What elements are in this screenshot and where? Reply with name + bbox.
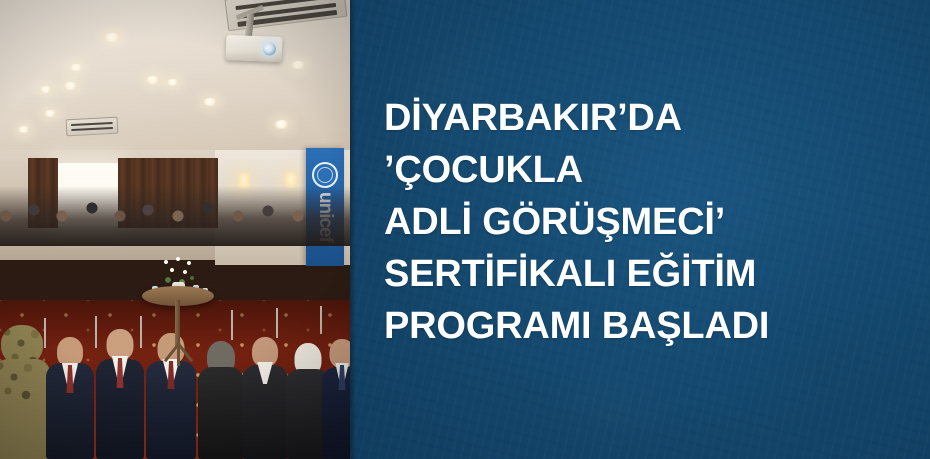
audience-crowd [0,186,350,246]
headline-line-1: DİYARBAKIR’DA [384,92,916,144]
headline: DİYARBAKIR’DA ’ÇOCUKLA ADLİ GÖRÜŞMECİ’ S… [384,92,916,352]
downlight-icon [167,79,179,86]
table-foot [177,344,180,366]
chair-leg [140,316,142,348]
headline-panel: DİYARBAKIR’DA ’ÇOCUKLA ADLİ GÖRÜŞMECİ’ S… [350,0,930,459]
downlight-icon [44,110,57,117]
projector [226,35,283,62]
downlight-icon [64,82,78,90]
projector-lens-icon [263,42,276,55]
news-card: unicef [0,0,930,459]
downlight-icon [274,120,290,129]
chair-leg [276,308,278,338]
headline-line-2: ’ÇOCUKLA [384,144,916,196]
chair-leg [320,306,322,334]
downlight-icon [104,33,121,42]
downlight-icon [40,86,52,93]
headline-line-4: SERTİFİKALI EĞİTİM [384,248,916,300]
unicef-logo-icon [312,162,338,188]
downlight-icon [203,98,218,106]
attendee [46,333,94,459]
table-stem [175,300,180,348]
event-photo: unicef [0,0,350,459]
chair-leg [231,310,233,340]
attendee [96,329,144,459]
air-vent [66,117,119,137]
attendee [242,335,288,459]
downlight-icon [18,126,30,133]
downlight-icon [146,76,160,84]
attendee-soldier [0,325,50,459]
chair-leg [44,318,46,348]
chair-leg [95,316,97,348]
downlight-icon [70,64,83,71]
downlight-icon [291,61,306,69]
attendee-headscarf [198,337,244,459]
headline-line-3: ADLİ GÖRÜŞMECİ’ [384,196,916,248]
panel-left-edge-shadow [350,0,356,459]
headline-line-5: PROGRAMI BAŞLADI [384,300,916,352]
attendee [322,337,350,459]
